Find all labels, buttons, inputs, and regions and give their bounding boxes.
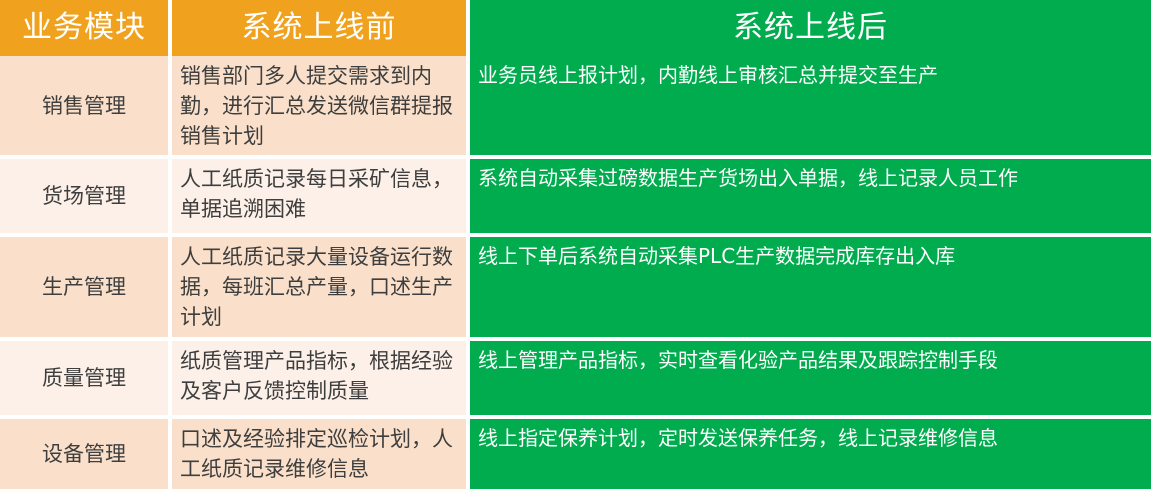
cell-before: 人工纸质记录大量设备运行数据，每班汇总产量，口述生产计划 <box>172 237 466 336</box>
table-header-row: 业务模块 系统上线前 系统上线后 <box>0 0 1151 56</box>
cell-after: 系统自动采集过磅数据生产货场出入单据，线上记录人员工作 <box>470 159 1151 233</box>
cell-before: 人工纸质记录每日采矿信息，单据追溯困难 <box>172 159 466 233</box>
column-header-after: 系统上线后 <box>470 0 1151 56</box>
table-row: 销售管理 销售部门多人提交需求到内勤，进行汇总发送微信群提报销售计划 业务员线上… <box>0 56 1151 155</box>
table-body: 销售管理 销售部门多人提交需求到内勤，进行汇总发送微信群提报销售计划 业务员线上… <box>0 56 1151 489</box>
column-header-before: 系统上线前 <box>172 0 466 56</box>
cell-module: 货场管理 <box>0 159 168 233</box>
cell-module: 销售管理 <box>0 56 168 155</box>
cell-before: 口述及经验排定巡检计划，人工纸质记录维修信息 <box>172 419 466 489</box>
table-row: 生产管理 人工纸质记录大量设备运行数据，每班汇总产量，口述生产计划 线上下单后系… <box>0 237 1151 336</box>
cell-module: 质量管理 <box>0 341 168 415</box>
cell-after: 线上下单后系统自动采集PLC生产数据完成库存出入库 <box>470 237 1151 336</box>
table-row: 设备管理 口述及经验排定巡检计划，人工纸质记录维修信息 线上指定保养计划，定时发… <box>0 419 1151 489</box>
cell-module: 设备管理 <box>0 419 168 489</box>
table-row: 质量管理 纸质管理产品指标，根据经验及客户反馈控制质量 线上管理产品指标，实时查… <box>0 341 1151 415</box>
table-row: 货场管理 人工纸质记录每日采矿信息，单据追溯困难 系统自动采集过磅数据生产货场出… <box>0 159 1151 233</box>
cell-before: 纸质管理产品指标，根据经验及客户反馈控制质量 <box>172 341 466 415</box>
cell-after: 线上指定保养计划，定时发送保养任务，线上记录维修信息 <box>470 419 1151 489</box>
cell-before: 销售部门多人提交需求到内勤，进行汇总发送微信群提报销售计划 <box>172 56 466 155</box>
cell-module: 生产管理 <box>0 237 168 336</box>
column-header-module: 业务模块 <box>0 0 168 56</box>
cell-after: 业务员线上报计划，内勤线上审核汇总并提交至生产 <box>470 56 1151 155</box>
cell-after: 线上管理产品指标，实时查看化验产品结果及跟踪控制手段 <box>470 341 1151 415</box>
comparison-table: 业务模块 系统上线前 系统上线后 销售管理 销售部门多人提交需求到内勤，进行汇总… <box>0 0 1151 471</box>
